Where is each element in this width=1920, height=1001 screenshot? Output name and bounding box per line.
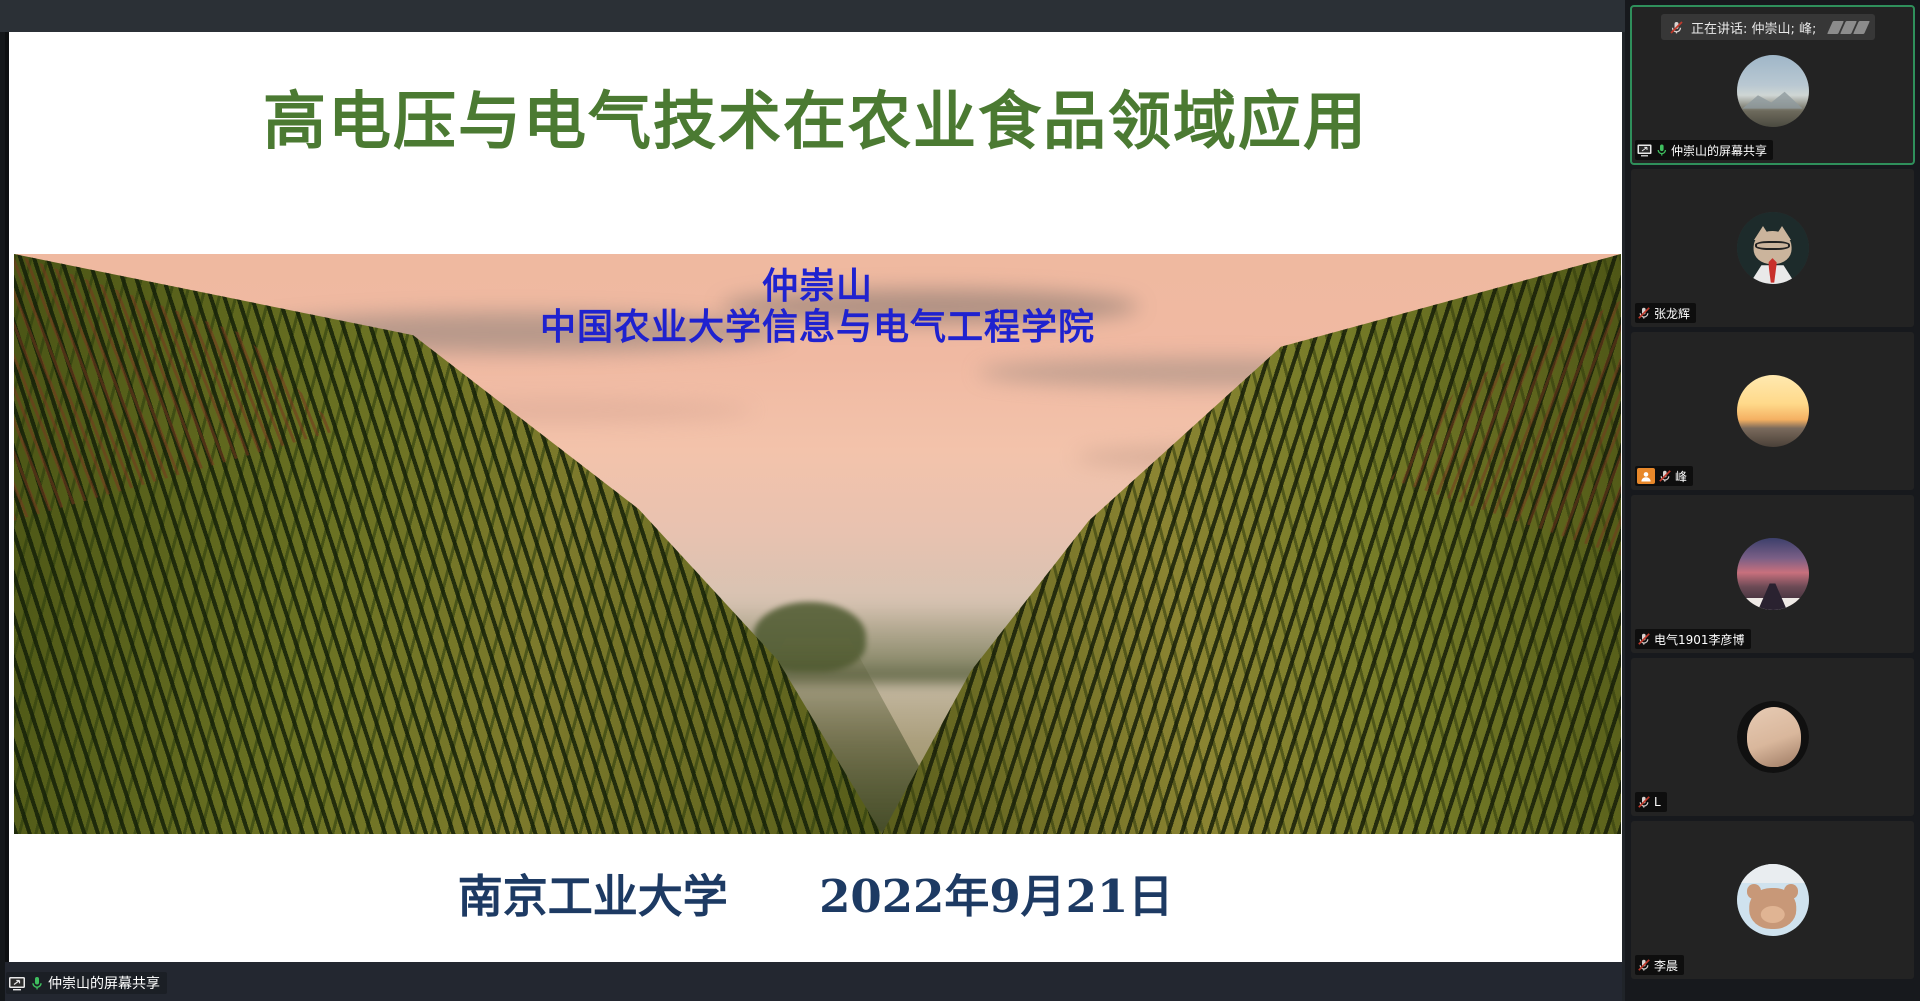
share-status-badge: 仲崇山的屏幕共享 [6,972,167,994]
microphone-icon [1656,143,1668,157]
active-speaker-text: 正在讲话: 仲崇山; 峰; [1691,18,1816,37]
screen-share-icon [1637,144,1653,157]
participant-name: 电气1901李彦博 [1654,631,1745,648]
zoom-top-toolbar[interactable] [0,0,1625,32]
avatar [1737,864,1809,936]
avatar [1737,538,1809,610]
participant-nameplate: 张龙辉 [1635,303,1696,323]
sunset-photo-avatar [1737,375,1809,447]
participant-nameplate: 电气1901李彦博 [1635,629,1751,649]
participant-name: L [1654,795,1661,809]
presentation-slide: 高电压与电气技术在农业食品领域应用 仲崇山 中 [9,32,1622,962]
participant-name: 张龙辉 [1654,305,1690,322]
participant-nameplate: 峰 [1635,466,1693,486]
participant-tile-2[interactable]: 峰 [1631,332,1914,490]
microphone-muted-icon [1637,632,1651,646]
microphone-muted-icon [1637,306,1651,320]
footer-place: 南京工业大学 [458,870,728,923]
presenter-organization: 中国农业大学信息与电气工程学院 [14,307,1621,348]
participant-tile-3[interactable]: 电气1901李彦博 [1631,495,1914,653]
avatar [1737,701,1809,773]
shared-screen-stage[interactable]: 高电压与电气技术在农业食品领域应用 仲崇山 中 [5,32,1622,962]
participant-tile-0[interactable]: 正在讲话: 仲崇山; 峰; [1631,6,1914,164]
avatar [1737,55,1809,127]
participant-tile-4[interactable]: L [1631,658,1914,816]
microphone-muted-icon [1658,469,1672,483]
host-icon [1637,468,1655,484]
active-speaker-banner: 正在讲话: 仲崇山; 峰; [1661,14,1875,40]
microphone-muted-icon [1637,795,1651,809]
avatar [1737,375,1809,447]
audio-waveform-icon [1830,21,1867,34]
slide-title: 高电压与电气技术在农业食品领域应用 [9,90,1622,153]
footer-date: 2022年9月21日 [819,870,1173,923]
microphone-muted-icon [1669,20,1684,35]
participant-nameplate: 李晨 [1635,955,1684,975]
microphone-icon [30,975,44,991]
cornfield-photo: 仲崇山 中国农业大学信息与电气工程学院 [14,254,1621,834]
share-status-label: 仲崇山的屏幕共享 [48,973,160,993]
person-face-photo-avatar [1737,701,1809,773]
cartoon-bear-avatar [1737,864,1809,936]
avatar [1737,212,1809,284]
participant-tile-5[interactable]: 李晨 [1631,821,1914,979]
screen-share-icon [8,976,26,991]
mountain-photo-avatar [1737,55,1809,127]
slide-subtitle-block: 仲崇山 中国农业大学信息与电气工程学院 [14,254,1621,349]
microphone-muted-icon [1637,958,1651,972]
slide-footer: 南京工业大学 2022年9月21日 [9,860,1622,925]
participant-name: 李晨 [1654,957,1678,974]
participant-name: 仲崇山的屏幕共享 [1671,142,1767,159]
participant-nameplate: L [1635,792,1667,812]
participant-name: 峰 [1675,468,1687,485]
zoom-meeting-window: 高电压与电气技术在农业食品领域应用 仲崇山 中 [0,0,1920,1001]
cat-with-glasses-avatar [1737,212,1809,284]
participant-nameplate: 仲崇山的屏幕共享 [1635,140,1773,160]
participant-filmstrip[interactable]: 正在讲话: 仲崇山; 峰; [1625,0,1920,1001]
sunset-bridge-photo-avatar [1737,538,1809,610]
share-status-strip [5,962,1622,1001]
participant-tile-1[interactable]: 张龙辉 [1631,169,1914,327]
presenter-name: 仲崇山 [14,266,1621,307]
